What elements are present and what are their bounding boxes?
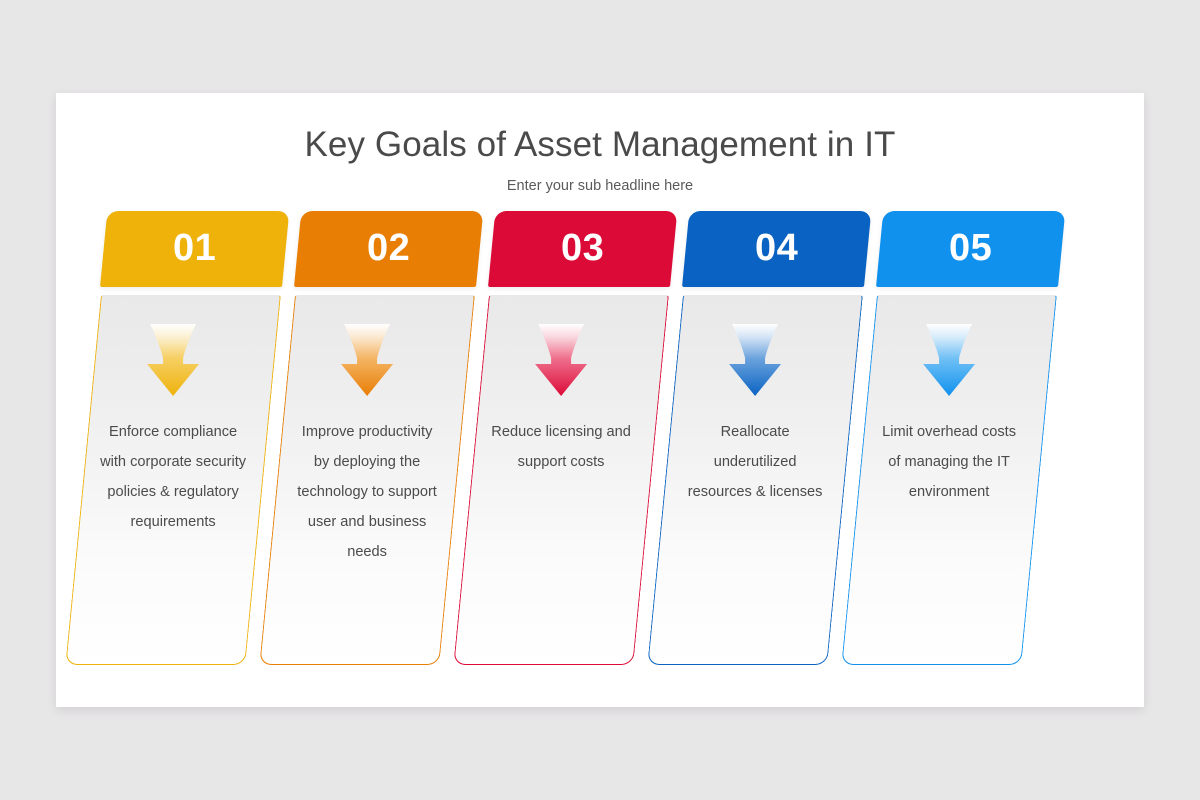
step-description-01: Enforce compliance with corporate securi… (98, 417, 248, 537)
step-card-content-05: Limit overhead costs of managing the IT … (859, 295, 1039, 665)
down-arrow-icon (525, 322, 597, 400)
step-tab-02[interactable]: 02 (294, 211, 483, 287)
down-arrow-icon (913, 322, 985, 400)
step-card-content-04: Reallocate underutilized resources & lic… (665, 295, 845, 665)
step-number-02: 02 (298, 211, 480, 287)
page-background: Key Goals of Asset Management in IT Ente… (0, 0, 1200, 800)
step-tab-03[interactable]: 03 (488, 211, 677, 287)
page-title: Key Goals of Asset Management in IT (56, 93, 1144, 165)
down-arrow-icon (331, 322, 403, 400)
step-description-02: Improve productivity by deploying the te… (292, 417, 442, 567)
step-card-01[interactable]: Enforce compliance with corporate securi… (64, 294, 282, 666)
down-arrow-icon (719, 322, 791, 400)
infographic-column-03[interactable]: 03 (482, 211, 676, 666)
step-card-05[interactable]: Limit overhead costs of managing the IT … (840, 294, 1058, 666)
infographic-column-05[interactable]: 05 (870, 211, 1064, 666)
step-number-05: 05 (880, 211, 1062, 287)
page-subtitle: Enter your sub headline here (56, 165, 1144, 194)
step-card-02[interactable]: Improve productivity by deploying the te… (258, 294, 476, 666)
slide-canvas: Key Goals of Asset Management in IT Ente… (56, 93, 1144, 707)
step-card-03[interactable]: Reduce licensing and support costs (452, 294, 670, 666)
infographic-column-04[interactable]: 04 (676, 211, 870, 666)
step-card-04[interactable]: Reallocate underutilized resources & lic… (646, 294, 864, 666)
step-card-content-01: Enforce compliance with corporate securi… (83, 295, 263, 665)
step-description-04: Reallocate underutilized resources & lic… (680, 417, 830, 507)
heading-block: Key Goals of Asset Management in IT Ente… (56, 93, 1144, 194)
step-number-01: 01 (104, 211, 286, 287)
step-tab-05[interactable]: 05 (876, 211, 1065, 287)
down-arrow-icon (137, 322, 209, 400)
infographic-column-02[interactable]: 02 (288, 211, 482, 666)
step-tab-04[interactable]: 04 (682, 211, 871, 287)
step-card-content-03: Reduce licensing and support costs (471, 295, 651, 665)
step-tab-01[interactable]: 01 (100, 211, 289, 287)
step-description-05: Limit overhead costs of managing the IT … (874, 417, 1024, 507)
step-number-04: 04 (686, 211, 868, 287)
step-card-content-02: Improve productivity by deploying the te… (277, 295, 457, 665)
step-number-03: 03 (492, 211, 674, 287)
infographic-columns: 01 (94, 211, 1106, 666)
infographic-column-01[interactable]: 01 (94, 211, 288, 666)
step-description-03: Reduce licensing and support costs (486, 417, 636, 477)
